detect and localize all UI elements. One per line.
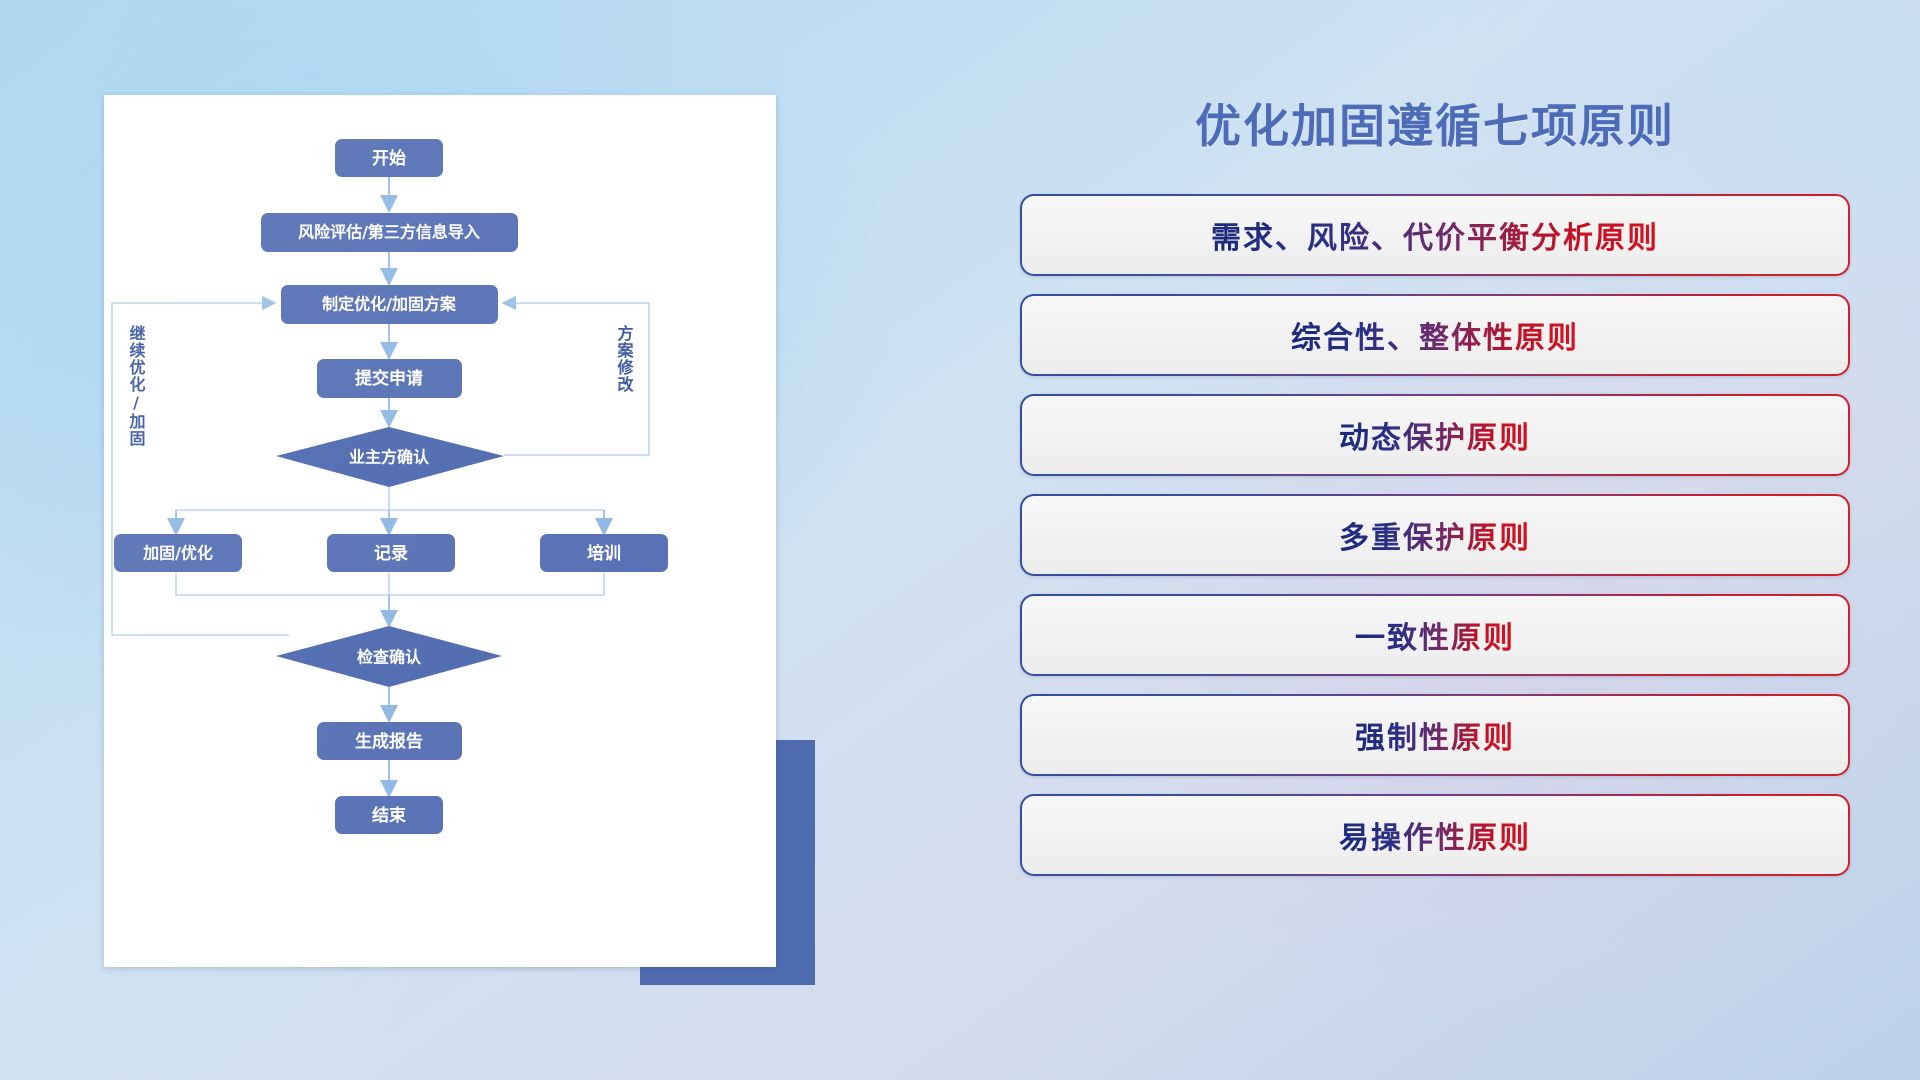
principle-card-inner: 一致性原则: [1022, 596, 1848, 674]
principle-card-inner: 易操作性原则: [1022, 796, 1848, 874]
principle-card-inner: 需求、风险、代价平衡分析原则: [1022, 196, 1848, 274]
flow-node-reinforce-label: 加固/优化: [142, 544, 213, 563]
principle-card[interactable]: 综合性、整体性原则: [1020, 294, 1850, 376]
flow-node-plan-label: 制定优化/加固方案: [322, 295, 457, 314]
principle-card-label: 一致性原则: [1355, 613, 1515, 657]
principle-card[interactable]: 多重保护原则: [1020, 494, 1850, 576]
principle-card-label: 强制性原则: [1355, 713, 1515, 757]
flow-node-end-label: 结束: [372, 805, 406, 826]
slide-root: 开始 风险评估/第三方信息导入 制定优化/加固方案 提交申请 业主方确认 加固/…: [0, 0, 1920, 1080]
principle-card-label: 动态保护原则: [1339, 413, 1531, 457]
flow-edge-label-continue-loop: 继续优化/加固: [127, 324, 147, 447]
principle-card-inner: 动态保护原则: [1022, 396, 1848, 474]
principle-card-label: 多重保护原则: [1339, 513, 1531, 557]
principle-card-label: 需求、风险、代价平衡分析原则: [1211, 213, 1659, 257]
flow-node-record-label: 记录: [374, 544, 408, 564]
principle-card-list: 需求、风险、代价平衡分析原则 综合性、整体性原则 动态保护原则 多重保护原则: [1020, 194, 1850, 876]
flowchart-svg: 开始 风险评估/第三方信息导入 制定优化/加固方案 提交申请 业主方确认 加固/…: [104, 95, 776, 967]
principle-card-inner: 综合性、整体性原则: [1022, 296, 1848, 374]
flow-node-risk-assessment-label: 风险评估/第三方信息导入: [298, 223, 480, 242]
principle-card[interactable]: 动态保护原则: [1020, 394, 1850, 476]
flow-node-training-label: 培训: [587, 543, 621, 564]
principle-card[interactable]: 一致性原则: [1020, 594, 1850, 676]
flow-node-start-label: 开始: [372, 148, 406, 169]
principle-card[interactable]: 易操作性原则: [1020, 794, 1850, 876]
flow-edge-label-plan-revision: 方案修改: [615, 324, 635, 393]
page-title: 优化加固遵循七项原则: [1020, 90, 1850, 156]
flowchart-card: 开始 风险评估/第三方信息导入 制定优化/加固方案 提交申请 业主方确认 加固/…: [104, 95, 776, 967]
principle-card-label: 综合性、整体性原则: [1291, 313, 1579, 357]
principle-card-label: 易操作性原则: [1339, 813, 1531, 857]
principle-card-inner: 多重保护原则: [1022, 496, 1848, 574]
principle-card[interactable]: 需求、风险、代价平衡分析原则: [1020, 194, 1850, 276]
flow-decision-check-confirm-label: 检查确认: [357, 648, 422, 667]
principles-panel: 优化加固遵循七项原则 需求、风险、代价平衡分析原则 综合性、整体性原则 动态保护…: [1020, 90, 1850, 1020]
flow-node-submit-label: 提交申请: [355, 368, 423, 389]
flow-decision-owner-confirm-label: 业主方确认: [349, 448, 430, 467]
principle-card[interactable]: 强制性原则: [1020, 694, 1850, 776]
flow-node-report-label: 生成报告: [355, 731, 423, 752]
principle-card-inner: 强制性原则: [1022, 696, 1848, 774]
